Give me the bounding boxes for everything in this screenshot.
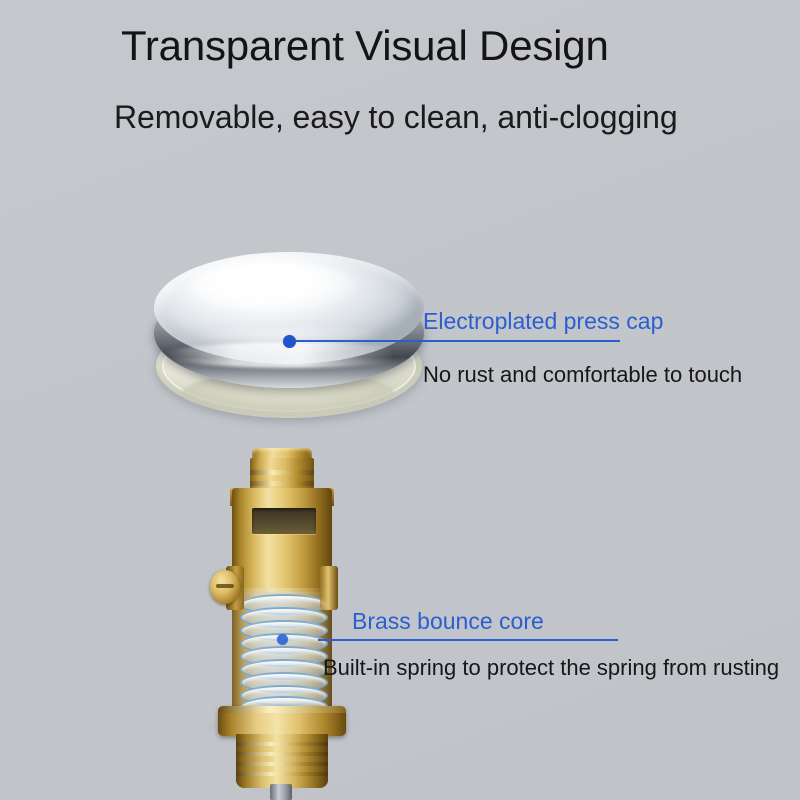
core-post-ring	[250, 481, 314, 486]
core-post-ring	[250, 470, 314, 475]
callout-description-bounce-core: Built-in spring to protect the spring fr…	[323, 655, 779, 681]
core-steel-pin	[270, 784, 292, 800]
page-subtitle: Removable, easy to clean, anti-clogging	[114, 99, 678, 136]
thread-ridge	[236, 752, 328, 756]
product-infographic: Transparent Visual Design Removable, eas…	[0, 0, 800, 800]
callout-marker-bounce-core	[277, 634, 288, 645]
thread-ridge	[236, 762, 328, 766]
callout-leader-line-press-cap	[295, 340, 620, 342]
core-cylinder	[232, 488, 332, 592]
brass-core-illustration	[196, 448, 366, 800]
callout-leader-line-bounce-core	[318, 639, 618, 641]
core-post-body	[250, 458, 314, 492]
callout-description-press-cap: No rust and comfortable to touch	[423, 362, 742, 388]
core-collar-right	[320, 566, 338, 610]
callout-label-bounce-core: Brass bounce core	[352, 608, 544, 635]
callout-label-press-cap: Electroplated press cap	[423, 308, 663, 335]
core-dark-slot	[252, 508, 316, 534]
thread-ridge	[236, 742, 328, 746]
thread-ridge	[236, 772, 328, 776]
cap-top-highlight	[188, 262, 358, 312]
page-title: Transparent Visual Design	[121, 22, 609, 70]
core-flange-top	[218, 706, 346, 713]
core-side-lug-slot	[216, 584, 234, 588]
